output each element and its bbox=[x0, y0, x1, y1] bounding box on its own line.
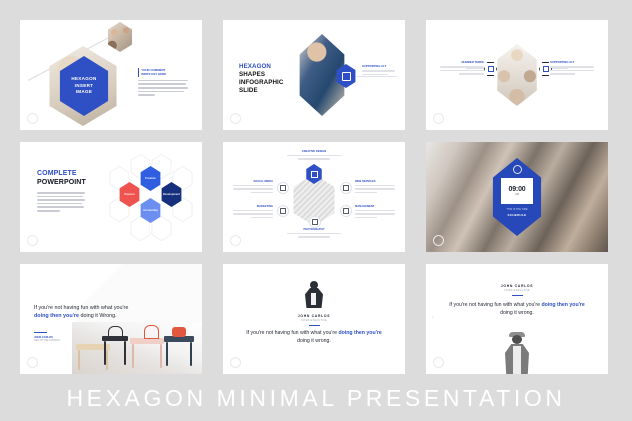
slide-thumbnail-6[interactable]: 09:00 AM THIS IS THE TIME SCHEDULE bbox=[426, 142, 608, 252]
cell-label: Creative bbox=[145, 177, 156, 180]
quote-text: If you're not having fun with what you'r… bbox=[243, 330, 385, 346]
node-title: PHOTOGRAPHY bbox=[279, 228, 349, 231]
hex-badge-icon-left bbox=[484, 62, 497, 76]
title-line-2: SHAPES bbox=[239, 71, 283, 79]
slide-thumbnail-2[interactable]: HEXAGON SHAPES INFOGRAPHIC SLIDE SUPPORT… bbox=[223, 20, 405, 130]
square-icon bbox=[342, 72, 351, 81]
portrait-photo bbox=[303, 281, 325, 311]
node-title: MANAGEMENT bbox=[355, 205, 395, 208]
preview-canvas: HEXAGON INSERT IMAGE YOUR COMMENT WRITE … bbox=[0, 0, 632, 421]
quote-text: If you're not having fun with what you'r… bbox=[34, 304, 142, 321]
node-bottom: PHOTOGRAPHY bbox=[279, 228, 349, 238]
divider bbox=[309, 325, 320, 326]
left-callout: NUMBER THREE bbox=[440, 60, 484, 77]
page-title: HEXAGON MINIMAL PRESENTATION bbox=[66, 385, 565, 412]
node-right-lower: MANAGEMENT bbox=[355, 205, 395, 220]
kicker: YOUR COMMENT WRITE KEY HERE bbox=[138, 68, 188, 77]
quote-part-1: If you're not having fun with what you'r… bbox=[246, 330, 338, 336]
quote-part-2: doing it Wrong. bbox=[79, 313, 117, 319]
title-line-2: POWERPOINT bbox=[37, 179, 86, 188]
author-name: JOHN CARLOS bbox=[223, 314, 405, 318]
slide-1-text-block: YOUR COMMENT WRITE KEY HERE bbox=[138, 68, 188, 98]
page-marker bbox=[27, 113, 38, 124]
title-line-1: HEXAGON bbox=[239, 63, 283, 71]
page-marker bbox=[433, 357, 444, 368]
author-role: CHIEF EXECUTIVE bbox=[426, 289, 608, 292]
node-icon bbox=[309, 216, 321, 228]
page-marker bbox=[433, 235, 444, 246]
slide-thumbnail-9[interactable]: JOHN CARLOS CHIEF EXECUTIVE If you're no… bbox=[426, 264, 608, 374]
node-left-lower: MARKETING bbox=[233, 205, 273, 220]
quote-highlight: doing then you're bbox=[34, 313, 79, 319]
time-card: 09:00 AM bbox=[501, 178, 533, 204]
page-marker bbox=[230, 357, 241, 368]
node-icon bbox=[277, 205, 289, 217]
hexagon-caption-line-3: IMAGE bbox=[76, 89, 93, 96]
author-name: JOHN CARLOS bbox=[34, 336, 60, 339]
right-callout: SUPPORTING ALT bbox=[550, 60, 594, 77]
title-line-4: SLIDE bbox=[239, 87, 283, 95]
honeycomb-diagram: Creative Passion Development Accounting bbox=[108, 154, 194, 240]
quote-part-2: doing it wrong. bbox=[297, 338, 331, 344]
author-name: JOHN CARLOS bbox=[426, 284, 608, 288]
caption-small: THIS IS THE TIME bbox=[506, 208, 527, 211]
time-value: 09:00 bbox=[509, 186, 526, 193]
node-icon bbox=[340, 205, 352, 217]
page-marker bbox=[27, 357, 38, 368]
kicker-line-2: WRITE KEY HERE bbox=[141, 72, 166, 76]
page-marker bbox=[27, 235, 38, 246]
node-title: SOCIAL MEDIA bbox=[233, 180, 273, 183]
caption-bold: SCHEDULE bbox=[508, 213, 527, 217]
node-icon bbox=[340, 182, 352, 194]
slide-grid: HEXAGON INSERT IMAGE YOUR COMMENT WRITE … bbox=[20, 20, 612, 374]
node-icon bbox=[277, 182, 289, 194]
page-marker bbox=[433, 113, 444, 124]
portrait-photo bbox=[504, 332, 530, 374]
callout-title: SUPPORTING ALT bbox=[362, 64, 395, 68]
slide-thumbnail-4[interactable]: COMPLETE POWERPOINT bbox=[20, 142, 202, 252]
title-line-3: INFOGRAPHIC bbox=[239, 79, 283, 87]
node-left-upper: SOCIAL MEDIA bbox=[233, 180, 273, 195]
left-callout-title: NUMBER THREE bbox=[440, 60, 484, 64]
slide-4-title: COMPLETE POWERPOINT bbox=[37, 170, 86, 187]
divider bbox=[34, 332, 47, 333]
author-block: JOHN CARLOS CEO OF THE COMPANY bbox=[34, 336, 60, 342]
cell-label: Development bbox=[163, 193, 180, 196]
quote-highlight: doing then you're bbox=[338, 330, 381, 336]
footer-banner: HEXAGON MINIMAL PRESENTATION bbox=[0, 376, 632, 421]
body-placeholder-lines bbox=[138, 80, 188, 96]
slide-thumbnail-7[interactable]: If you're not having fun with what you'r… bbox=[20, 264, 202, 374]
node-title: CREATIVE DESIGN bbox=[279, 150, 349, 153]
author-role: CHIEF EXECUTIVE bbox=[223, 319, 405, 322]
slide-thumbnail-5[interactable]: CREATIVE DESIGN SOCIAL MEDIA WEB SERVICE… bbox=[223, 142, 405, 252]
quote-part-1: If you're not having fun with what you'r… bbox=[34, 305, 128, 311]
node-title: MARKETING bbox=[233, 205, 273, 208]
node-top: CREATIVE DESIGN bbox=[279, 150, 349, 160]
right-callout-title: SUPPORTING ALT bbox=[550, 60, 594, 64]
furniture-photo bbox=[72, 322, 202, 374]
kicker-bar bbox=[138, 68, 139, 77]
quote-part-1: If you're not having fun with what you'r… bbox=[449, 302, 541, 308]
quote-highlight: doing then you're bbox=[541, 302, 584, 308]
small-hexagon-photo bbox=[106, 22, 134, 52]
page-marker bbox=[230, 235, 241, 246]
slide-2-title: HEXAGON SHAPES INFOGRAPHIC SLIDE bbox=[239, 63, 283, 95]
prev-arrow-icon[interactable]: ‹ bbox=[432, 315, 434, 321]
hexagon-caption-line-2: INSERT bbox=[75, 83, 94, 90]
slide-thumbnail-3[interactable]: NUMBER THREE SUPPORTING ALT bbox=[426, 20, 608, 130]
quote-text: If you're not having fun with what you'r… bbox=[444, 302, 590, 318]
page-marker bbox=[230, 113, 241, 124]
node-right-upper: WEB SERVICES bbox=[355, 180, 395, 195]
clock-icon bbox=[513, 165, 522, 174]
quote-part-2: doing it wrong. bbox=[500, 310, 534, 316]
hexagon-caption-line-1: HEXAGON bbox=[71, 76, 96, 83]
slide-thumbnail-8[interactable]: JOHN CARLOS CHIEF EXECUTIVE If you're no… bbox=[223, 264, 405, 374]
team-photo-hexagon bbox=[494, 44, 540, 106]
title-line-1: COMPLETE bbox=[37, 170, 86, 179]
cell-label: Passion bbox=[124, 193, 134, 196]
cell-label: Accounting bbox=[143, 209, 158, 212]
divider bbox=[512, 295, 523, 296]
author-role: CEO OF THE COMPANY bbox=[34, 340, 60, 342]
node-title: WEB SERVICES bbox=[355, 180, 395, 183]
body-placeholder-lines bbox=[37, 192, 85, 214]
slide-thumbnail-1[interactable]: HEXAGON INSERT IMAGE YOUR COMMENT WRITE … bbox=[20, 20, 202, 130]
callout-block: SUPPORTING ALT bbox=[362, 64, 395, 77]
time-meridiem: AM bbox=[515, 193, 519, 196]
